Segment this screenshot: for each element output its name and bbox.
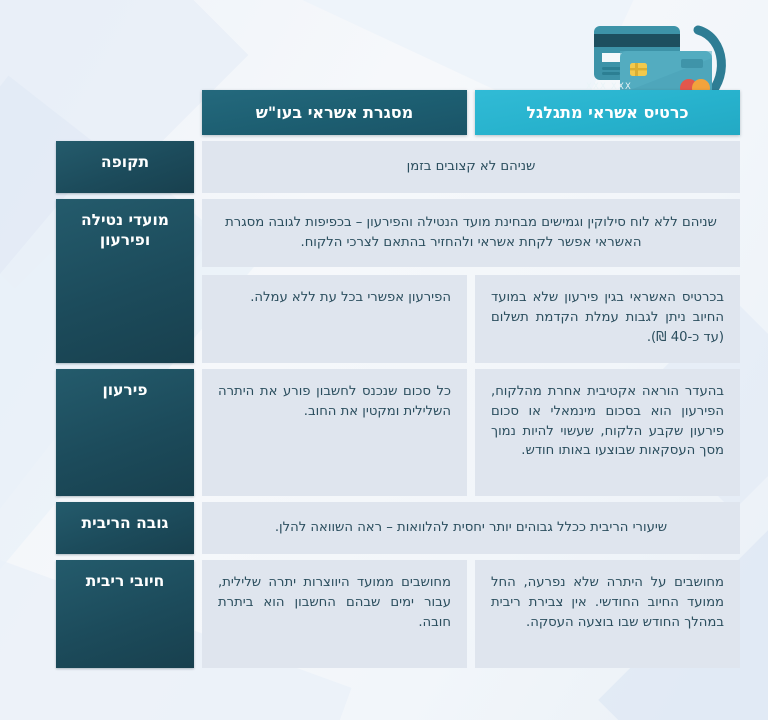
row-label-interest-charges: חיובי ריבית <box>56 560 194 668</box>
cell-revolving-credit-card: מחושבים על היתרה שלא נפרעה, החל ממועד הח… <box>475 560 740 668</box>
cell-overdraft-credit-line: מחושבים ממועד היווצרות יתרה שלילית, עבור… <box>202 560 467 668</box>
cell-merged: שניהם ללא לוח סילוקין וגמישים מבחינת מוע… <box>202 199 740 267</box>
table-header-row: כרטיס אשראי מתגלגל מסגרת אשראי בעו"ש <box>56 90 740 135</box>
row-content: שניהם לא קצובים בזמן <box>202 141 740 193</box>
header-cells: כרטיס אשראי מתגלגל מסגרת אשראי בעו"ש <box>202 90 740 135</box>
row-label-period: תקופה <box>56 141 194 193</box>
cell-split-group: מחושבים על היתרה שלא נפרעה, החל ממועד הח… <box>202 560 740 668</box>
cell-split-group: בכרטיס האשראי בגין פירעון שלא במועד החיו… <box>202 275 740 363</box>
cell-overdraft-credit-line: הפירעון אפשרי בכל עת ללא עמלה. <box>202 275 467 363</box>
row-content: מחושבים על היתרה שלא נפרעה, החל ממועד הח… <box>202 560 740 668</box>
cell-overdraft-credit-line: כל סכום שנכנס לחשבון פורע את היתרה השליל… <box>202 369 467 496</box>
infographic-page: XXX XXX XXX כרטיס אשראי מתגלגל מסגרת אשר… <box>0 0 768 720</box>
comparison-table: שניהם לא קצובים בזמן תקופה שניהם ללא לוח… <box>56 141 740 668</box>
table-row: שיעורי הריבית ככלל גבוהים יותר יחסית להל… <box>56 502 740 554</box>
cell-revolving-credit-card: בכרטיס האשראי בגין פירעון שלא במועד החיו… <box>475 275 740 363</box>
cell-revolving-credit-card: בהעדר הוראה אקטיבית אחרת מהלקוח, הפירעון… <box>475 369 740 496</box>
row-content: שניהם ללא לוח סילוקין וגמישים מבחינת מוע… <box>202 199 740 363</box>
row-label-interest-rate: גובה הריבית <box>56 502 194 554</box>
illustration-area: XXX XXX XXX <box>56 14 740 90</box>
table-row: שניהם לא קצובים בזמן תקופה <box>56 141 740 193</box>
cell-split-group: בהעדר הוראה אקטיבית אחרת מהלקוח, הפירעון… <box>202 369 740 496</box>
row-label-taking-and-repayment-dates: מועדי נטילה ופירעון <box>56 199 194 363</box>
row-label-repayment: פירעון <box>56 369 194 496</box>
row-content: בהעדר הוראה אקטיבית אחרת מהלקוח, הפירעון… <box>202 369 740 496</box>
header-column-overdraft-credit-line: מסגרת אשראי בעו"ש <box>202 90 467 135</box>
table-row: בהעדר הוראה אקטיבית אחרת מהלקוח, הפירעון… <box>56 369 740 496</box>
row-content: שיעורי הריבית ככלל גבוהים יותר יחסית להל… <box>202 502 740 554</box>
table-row: מחושבים על היתרה שלא נפרעה, החל ממועד הח… <box>56 560 740 668</box>
cell-merged: שניהם לא קצובים בזמן <box>202 141 740 193</box>
header-column-revolving-credit-card: כרטיס אשראי מתגלגל <box>475 90 740 135</box>
table-row: שניהם ללא לוח סילוקין וגמישים מבחינת מוע… <box>56 199 740 363</box>
header-label-spacer <box>56 90 194 135</box>
cell-merged: שיעורי הריבית ככלל גבוהים יותר יחסית להל… <box>202 502 740 554</box>
